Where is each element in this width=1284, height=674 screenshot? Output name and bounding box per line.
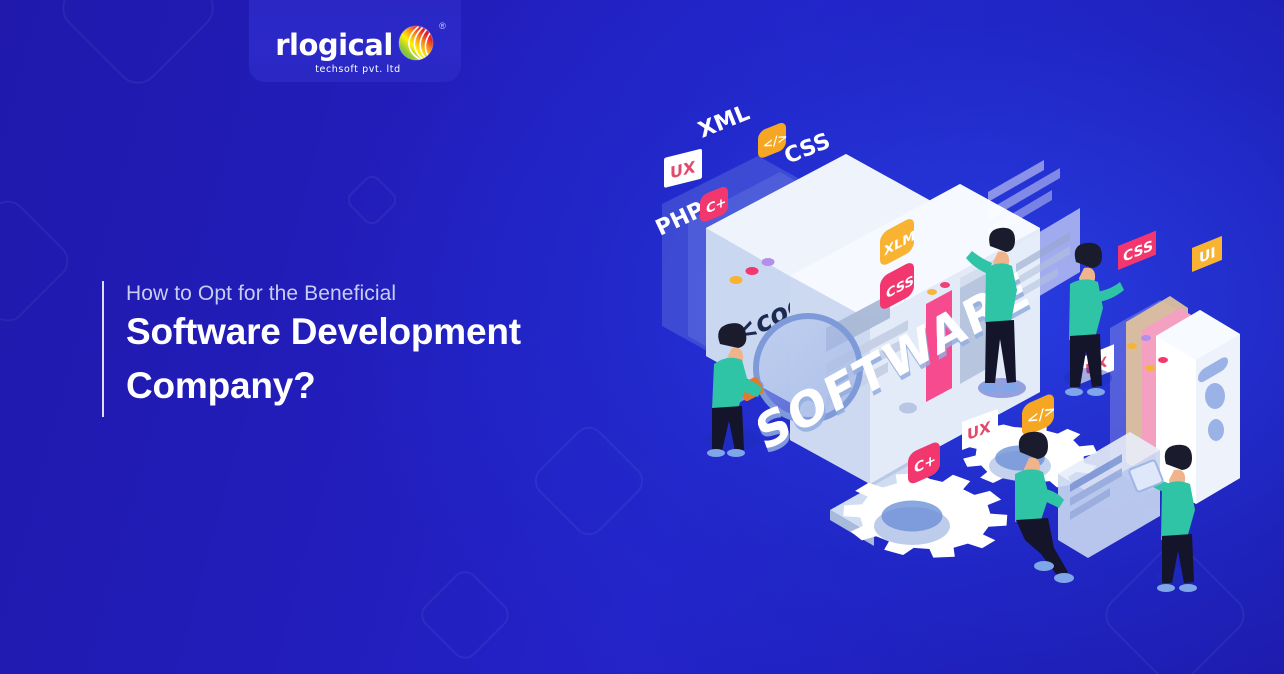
logo-plate[interactable]: rlogical techsoft pvt. ltd bbox=[249, 0, 461, 82]
tag-css: CSS bbox=[781, 129, 834, 170]
registered-trademark-icon: ® bbox=[439, 21, 446, 31]
logo-tagline: techsoft pvt. ltd bbox=[315, 64, 401, 75]
headline-eyebrow: How to Opt for the Beneficial bbox=[126, 283, 521, 305]
bg-diamond-shape bbox=[344, 172, 401, 229]
rainbow-fan-logo-icon bbox=[397, 24, 435, 62]
bg-diamond-shape bbox=[528, 420, 650, 542]
bg-diamond-shape bbox=[53, 0, 223, 93]
tag-ux: UX bbox=[664, 149, 702, 188]
page-title-line-1: Software Development bbox=[126, 305, 521, 359]
tag-css-flag: CSS bbox=[1118, 231, 1156, 270]
page-title-line-2: Company? bbox=[126, 359, 521, 413]
promo-banner: rlogical techsoft pvt. ltd bbox=[0, 0, 1284, 674]
bg-diamond-shape bbox=[416, 566, 515, 665]
bg-diamond-shape bbox=[0, 193, 76, 329]
headline-block: How to Opt for the Beneficial Software D… bbox=[102, 281, 521, 417]
software-development-isometric-illustration: <code/> bbox=[640, 96, 1284, 616]
logo[interactable]: rlogical techsoft pvt. ltd bbox=[275, 20, 435, 62]
logo-wordmark: rlogical bbox=[275, 31, 393, 60]
tag-ui-flag: UI bbox=[1192, 236, 1222, 272]
tag-xml: XML bbox=[695, 101, 753, 144]
